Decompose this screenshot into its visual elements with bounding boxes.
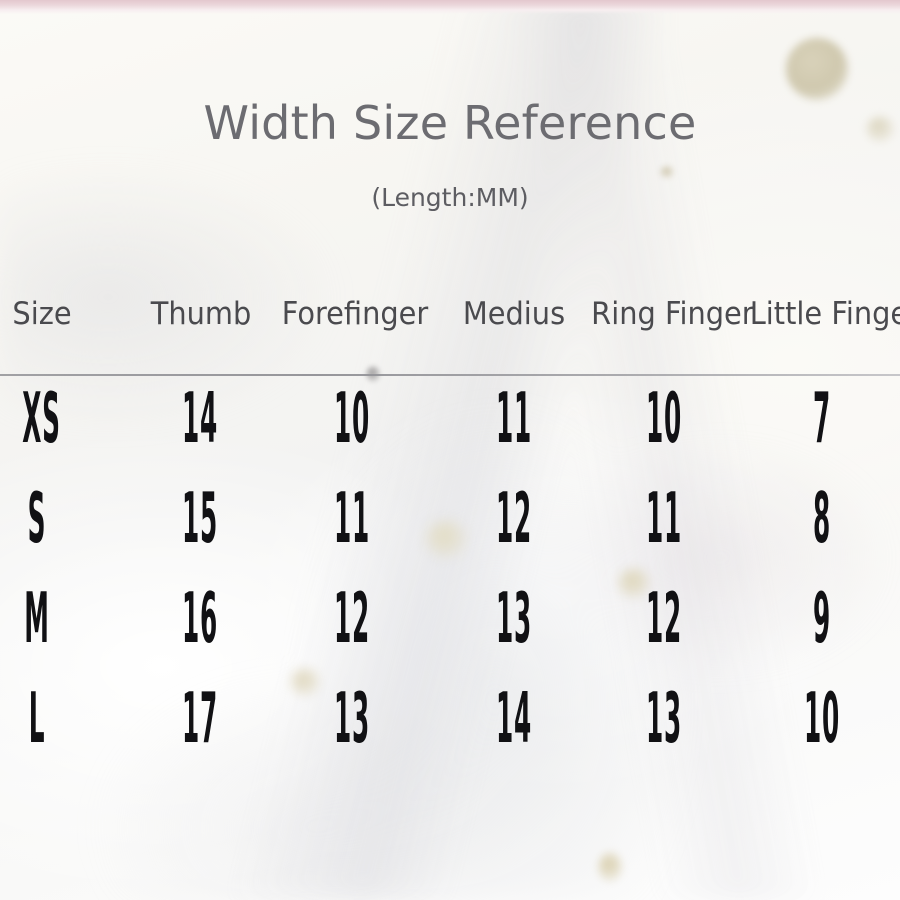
background-blob-icon: [786, 38, 848, 100]
cell-medius: 11: [493, 378, 535, 459]
cell-medius: 14: [493, 678, 535, 759]
cell-size: S: [22, 478, 52, 559]
cell-forefinger: 13: [331, 678, 373, 759]
cell-little-finger: 8: [801, 478, 843, 559]
size-table: Size Thumb Forefinger Medius Ring Finger…: [0, 296, 900, 374]
page-title: Width Size Reference: [0, 96, 900, 150]
column-header-ring-finger: Ring Finger: [591, 296, 729, 332]
column-header-forefinger: Forefinger: [278, 296, 432, 332]
cell-medius: 13: [493, 578, 535, 659]
table-row: S 15 11 12 11 8: [0, 478, 900, 578]
table-row: XS 14 10 11 10 7: [0, 378, 900, 478]
cell-forefinger: 12: [331, 578, 373, 659]
cell-little-finger: 9: [801, 578, 843, 659]
background-blob-icon: [598, 852, 622, 882]
cell-thumb: 16: [179, 578, 221, 659]
size-reference-chart: Width Size Reference (Length:MM) Size Th…: [0, 0, 900, 900]
cell-ring-finger: 11: [643, 478, 685, 559]
column-header-medius: Medius: [456, 296, 571, 332]
cell-medius: 12: [493, 478, 535, 559]
cell-forefinger: 11: [331, 478, 373, 559]
top-accent-band: [0, 0, 900, 14]
cell-thumb: 17: [179, 678, 221, 759]
cell-forefinger: 10: [331, 378, 373, 459]
cell-size: L: [22, 678, 52, 759]
cell-ring-finger: 13: [643, 678, 685, 759]
cell-ring-finger: 12: [643, 578, 685, 659]
table-row: M 16 12 13 12 9: [0, 578, 900, 678]
table-row: L 17 13 14 13 10: [0, 678, 900, 778]
table-header-row: Size Thumb Forefinger Medius Ring Finger…: [0, 296, 900, 374]
column-header-size: Size: [0, 296, 85, 332]
page-subtitle: (Length:MM): [0, 183, 900, 212]
cell-thumb: 14: [179, 378, 221, 459]
cell-ring-finger: 10: [643, 378, 685, 459]
cell-size: M: [22, 578, 52, 659]
cell-size: XS: [22, 378, 52, 459]
cell-little-finger: 10: [801, 678, 843, 759]
header-divider: [0, 374, 900, 376]
column-header-thumb: Thumb: [150, 296, 252, 332]
background-blob-icon: [660, 166, 674, 178]
cell-thumb: 15: [179, 478, 221, 559]
cell-little-finger: 7: [801, 378, 843, 459]
table-body: XS 14 10 11 10 7 S 15 11 12 11 8 M 16 12…: [0, 378, 900, 778]
column-header-little-finger: Little Finger: [750, 296, 900, 332]
